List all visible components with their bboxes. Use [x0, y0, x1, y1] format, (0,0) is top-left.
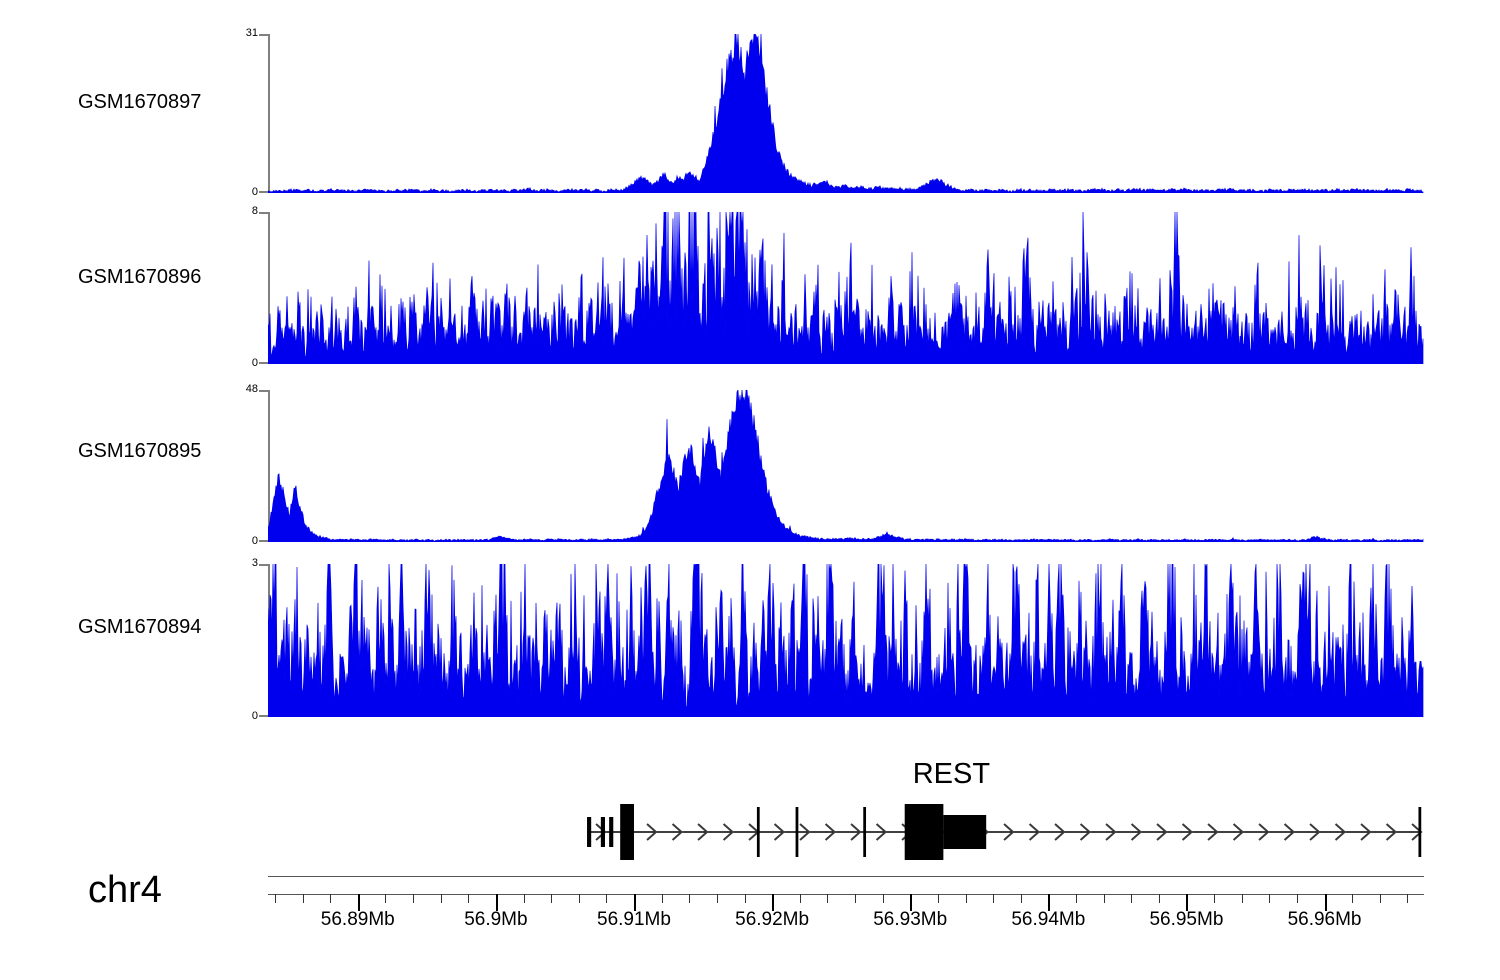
y-axis-min-label: 0: [198, 710, 258, 722]
axis-minor-tick: [1159, 894, 1160, 903]
axis-minor-tick: [606, 894, 607, 903]
chromosome-label: chr4: [88, 869, 162, 912]
axis-minor-tick: [745, 894, 746, 903]
axis-minor-tick: [303, 894, 304, 903]
gene-label: REST: [913, 758, 990, 791]
axis-minor-tick: [1214, 894, 1215, 903]
track-sample-label: GSM1670896: [78, 266, 201, 289]
axis-minor-tick: [330, 894, 331, 903]
coverage-plot[interactable]: [268, 212, 1424, 364]
axis-minor-tick: [1104, 894, 1105, 903]
axis-minor-tick: [662, 894, 663, 903]
genome-browser-view: GSM1670897310GSM167089680GSM1670895480GS…: [0, 0, 1500, 980]
axis-tick-label: 56.95Mb: [1116, 909, 1256, 931]
axis-minor-tick: [966, 894, 967, 903]
axis-minor-tick: [717, 894, 718, 903]
track-sample-label: GSM1670897: [78, 91, 201, 114]
axis-tick-label: 56.96Mb: [1255, 909, 1395, 931]
axis-tick-label: 56.94Mb: [978, 909, 1118, 931]
y-axis-min-label: 0: [198, 535, 258, 547]
axis-minor-tick: [1269, 894, 1270, 903]
axis-minor-tick: [441, 894, 442, 903]
axis-minor-tick: [1242, 894, 1243, 903]
axis-minor-tick: [1021, 894, 1022, 903]
y-axis-max-label: 8: [198, 205, 258, 217]
axis-tick-label: 56.92Mb: [702, 909, 842, 931]
axis-minor-tick: [579, 894, 580, 903]
gene-annotation-track[interactable]: REST: [268, 760, 1424, 880]
axis-minor-tick: [827, 894, 828, 903]
axis-minor-tick: [1131, 894, 1132, 903]
y-axis-min-label: 0: [198, 186, 258, 198]
axis-minor-tick: [1380, 894, 1381, 903]
gene-model-svg: [268, 760, 1424, 880]
axis-minor-tick: [1352, 894, 1353, 903]
axis-tick-label: 56.9Mb: [426, 909, 566, 931]
axis-minor-tick: [551, 894, 552, 903]
axis-minor-tick: [1407, 894, 1408, 903]
axis-tick-label: 56.93Mb: [840, 909, 980, 931]
y-axis-max-label: 31: [198, 27, 258, 39]
axis-minor-tick: [800, 894, 801, 903]
coverage-plot[interactable]: [268, 390, 1424, 542]
axis-minor-tick: [1297, 894, 1298, 903]
axis-minor-tick: [993, 894, 994, 903]
track-sample-label: GSM1670894: [78, 616, 201, 639]
y-axis-max-label: 3: [198, 557, 258, 569]
coverage-plot[interactable]: [268, 34, 1424, 193]
axis-tick-label: 56.91Mb: [564, 909, 704, 931]
axis-minor-tick: [938, 894, 939, 903]
axis-minor-tick: [689, 894, 690, 903]
axis-minor-tick: [883, 894, 884, 903]
y-axis-min-label: 0: [198, 357, 258, 369]
axis-top-rule: [268, 876, 1424, 877]
coordinate-axis[interactable]: 56.89Mb56.9Mb56.91Mb56.92Mb56.93Mb56.94M…: [268, 876, 1424, 976]
coverage-plot[interactable]: [268, 564, 1424, 717]
axis-minor-tick: [275, 894, 276, 903]
axis-minor-tick: [468, 894, 469, 903]
axis-tick-label: 56.89Mb: [288, 909, 428, 931]
track-sample-label: GSM1670895: [78, 440, 201, 463]
axis-minor-tick: [524, 894, 525, 903]
axis-minor-tick: [1076, 894, 1077, 903]
y-axis-max-label: 48: [198, 383, 258, 395]
axis-minor-tick: [385, 894, 386, 903]
axis-minor-tick: [855, 894, 856, 903]
axis-minor-tick: [413, 894, 414, 903]
